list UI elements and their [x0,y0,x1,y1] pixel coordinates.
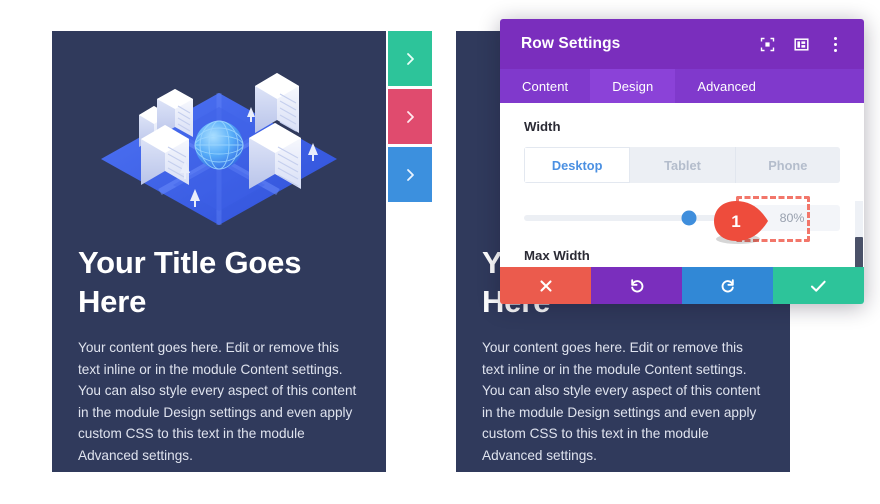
modal-scrollbar[interactable] [855,201,863,267]
tab-advanced[interactable]: Advanced [675,69,778,103]
device-btn-phone[interactable]: Phone [736,147,840,183]
device-btn-tablet[interactable]: Tablet [630,147,735,183]
edge-tab-blue[interactable] [388,147,432,202]
redo-icon [720,278,736,294]
max-width-field-label: Max Width [524,248,590,263]
modal-footer [500,267,864,304]
isometric-city-illustration [78,59,360,227]
chevron-right-icon [405,52,416,66]
width-value-text: 80% [780,211,805,225]
edge-tab-group [388,31,432,205]
undo-button[interactable] [591,267,682,304]
modal-title: Row Settings [521,35,748,53]
width-slider-row: 80% 1 [524,205,840,231]
width-slider-track[interactable] [524,215,728,221]
promo-card-left: Your Title Goes Here Your content goes h… [52,31,386,472]
layout-panel-icon[interactable] [786,29,816,59]
row-settings-modal: Row Settings [500,19,864,304]
card-title: Your Title Goes Here [78,243,358,321]
device-toggle-group: Desktop Tablet Phone [524,147,840,183]
card-body-text: Your content goes here. Edit or remove t… [482,337,764,467]
callout-number: 1 [724,210,748,234]
chevron-right-icon [405,168,416,182]
tab-design[interactable]: Design [590,69,675,103]
chevron-right-icon [405,110,416,124]
cancel-button[interactable] [500,267,591,304]
kebab-menu-icon[interactable] [820,29,850,59]
width-field-label: Width [524,119,840,134]
modal-tab-bar: Content Design Advanced [500,69,864,103]
modal-body: Width Desktop Tablet Phone 80% 1 Max [500,103,864,267]
checkmark-icon [810,279,827,293]
device-btn-desktop[interactable]: Desktop [524,147,630,183]
card-body-text: Your content goes here. Edit or remove t… [78,337,360,467]
tab-content[interactable]: Content [500,69,590,103]
redo-button[interactable] [682,267,773,304]
modal-header: Row Settings [500,19,864,69]
save-button[interactable] [773,267,864,304]
callout-marker-1: 1 [710,199,772,245]
edge-tab-green[interactable] [388,31,432,86]
width-slider-handle[interactable] [682,211,697,226]
focus-target-icon[interactable] [752,29,782,59]
undo-icon [629,278,645,294]
close-x-icon [539,279,553,293]
edge-tab-pink[interactable] [388,89,432,144]
modal-scrollbar-thumb[interactable] [855,237,863,267]
